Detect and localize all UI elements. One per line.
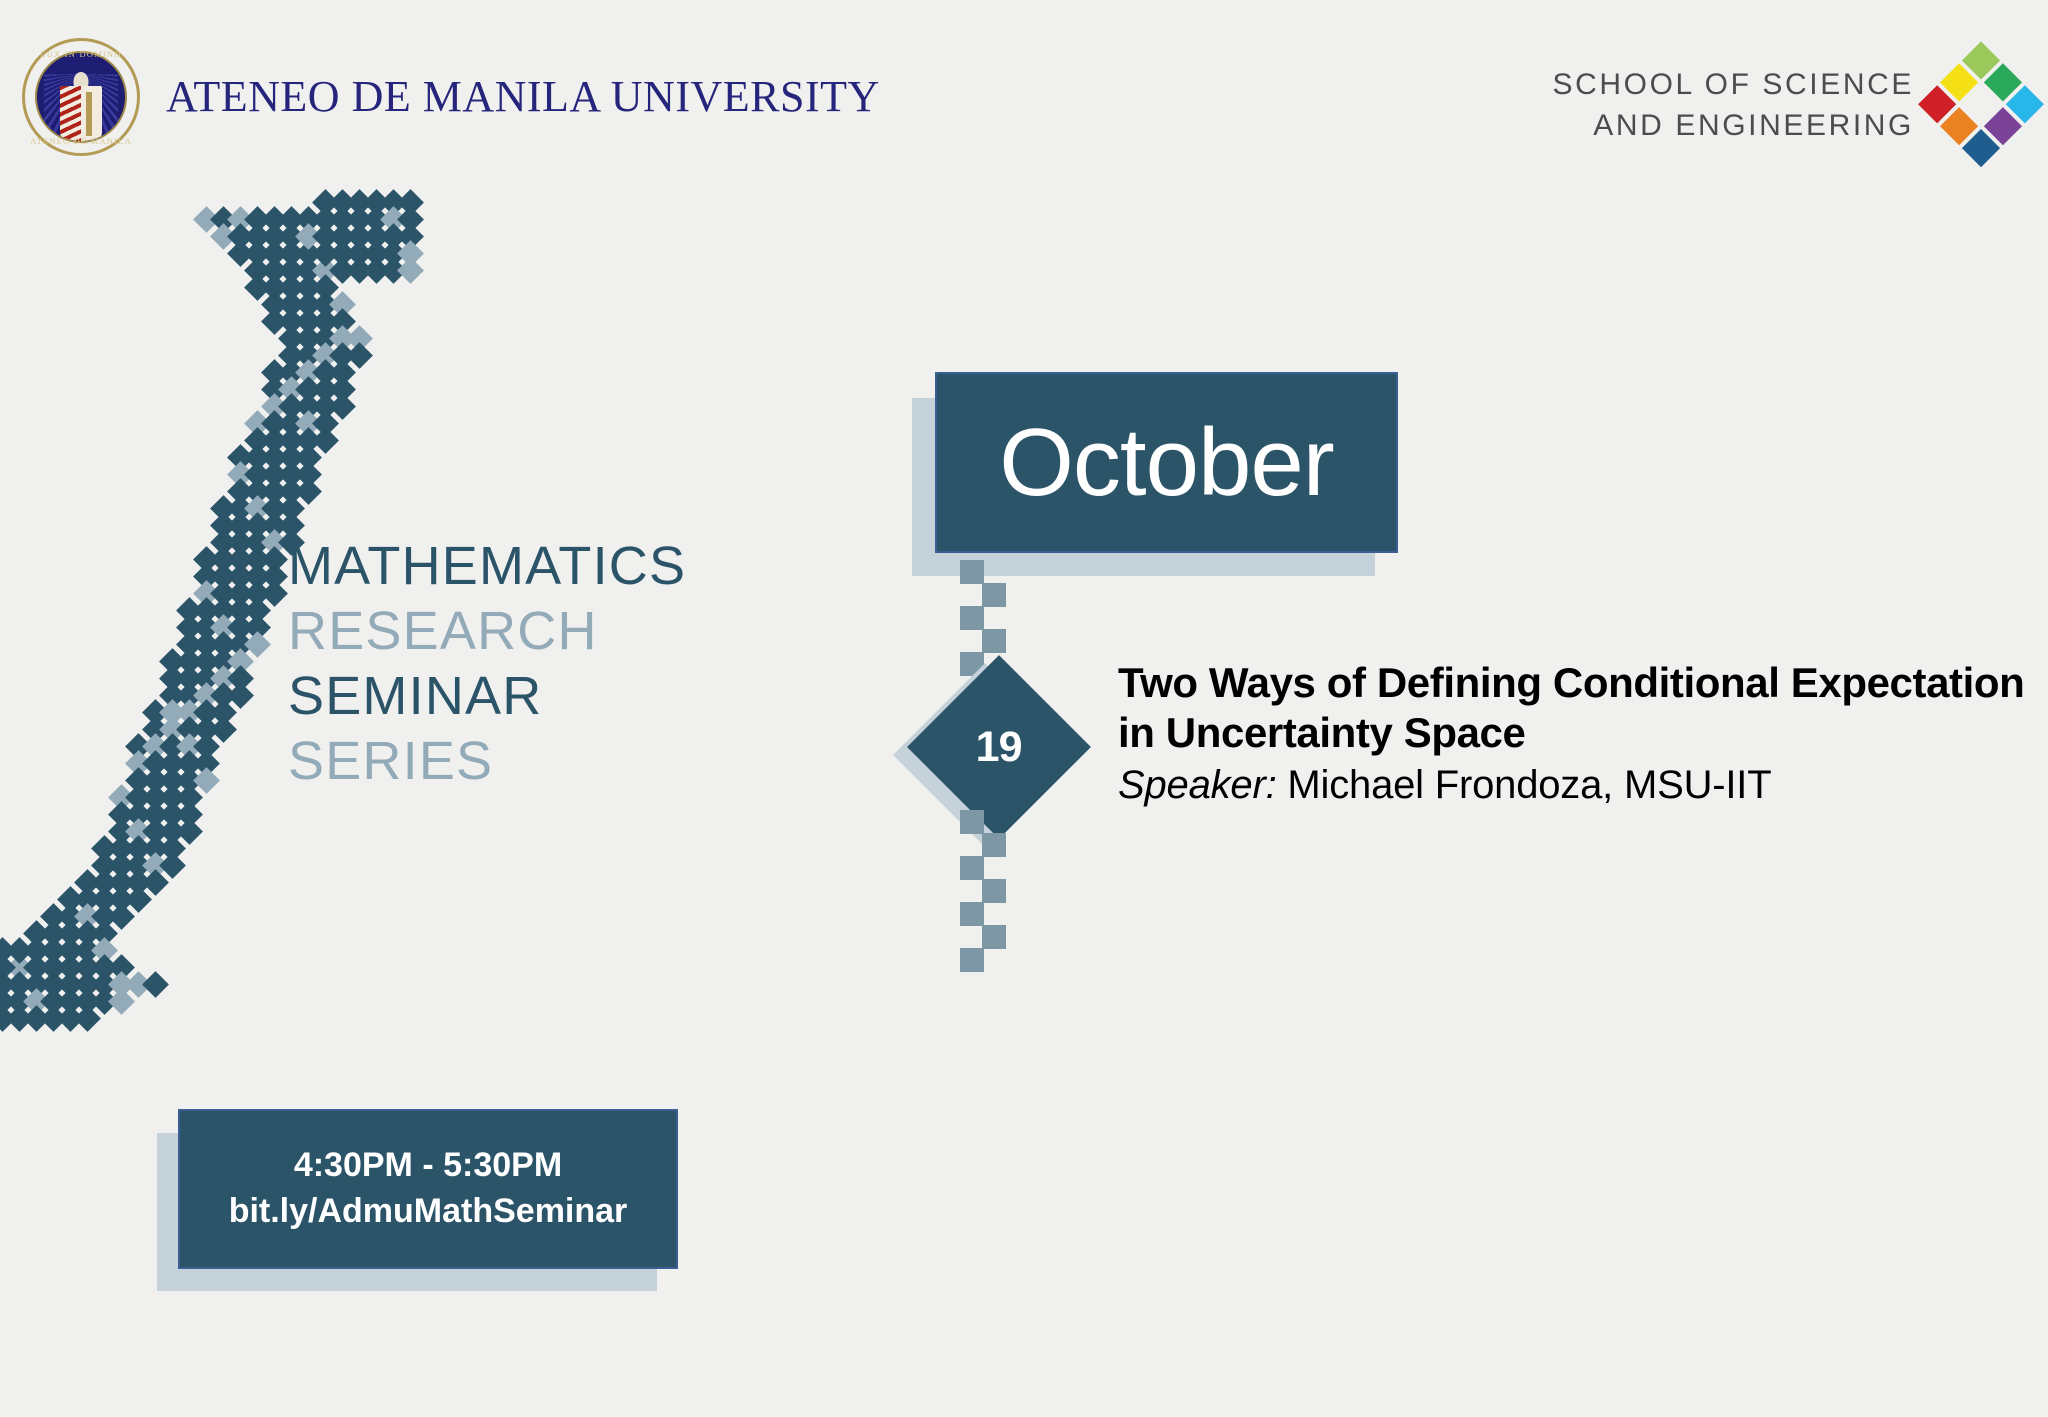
connector-tile (982, 583, 1006, 607)
speaker-name: Michael Frondoza, MSU-IIT (1287, 763, 1771, 807)
connector-tile (982, 879, 1006, 903)
integral-logo-tile (142, 869, 169, 896)
university-name: ATENEO DE MANILA UNIVERSITY (166, 75, 880, 119)
talk-title: Two Ways of Defining Conditional Expecta… (1118, 658, 2048, 757)
connector-tile (982, 833, 1006, 857)
integral-logo-tile (295, 478, 322, 505)
seal-motto-bottom: ATENEO DE MANILA (22, 136, 140, 146)
connector-tile (982, 629, 1006, 653)
month-box: October (935, 372, 1398, 553)
wordmark-mathematics: MATHEMATICS (288, 540, 686, 593)
integral-logo-tile (312, 427, 339, 454)
connector-tile (982, 925, 1006, 949)
school-logo-group: SCHOOL OF SCIENCE AND ENGINEERING (1553, 60, 2026, 150)
ateneo-seal-icon: LUX IN DOMINO ATENEO DE MANILA (22, 38, 140, 156)
connector-tile (960, 856, 984, 880)
wordmark-research: RESEARCH (288, 605, 686, 658)
integral-logo-tile (329, 393, 356, 420)
integral-logo-tile (74, 1005, 101, 1032)
event-time: 4:30PM - 5:30PM (294, 1143, 562, 1189)
shield-pillar (86, 92, 92, 136)
sose-diamond-icon (1917, 41, 2044, 168)
integral-logo-tile (210, 716, 237, 743)
connector-tile (960, 810, 984, 834)
connector-tile (960, 606, 984, 630)
integral-logo-tile (142, 971, 169, 998)
integral-logo-tile (176, 818, 203, 845)
integral-logo-tile (227, 682, 254, 709)
wordmark-seminar: SEMINAR (288, 670, 686, 723)
connector-tile (960, 902, 984, 926)
seal-shield-icon (60, 86, 102, 142)
talk-speaker: Speaker: Michael Frondoza, MSU-IIT (1118, 763, 2048, 808)
integral-logo-tile (397, 257, 424, 284)
month-label: October (999, 415, 1333, 511)
seal-inner-field (35, 51, 127, 143)
integral-logo-tile (193, 767, 220, 794)
integral-logo-tile (108, 903, 135, 930)
connector-below-day (960, 810, 1020, 970)
speaker-label: Speaker: (1118, 763, 1277, 807)
seal-motto-top: LUX IN DOMINO (22, 49, 140, 59)
seminar-wordmark: MATHEMATICS RESEARCH SEMINAR SERIES (288, 540, 686, 800)
connector-tile (960, 560, 984, 584)
day-label: 19 (976, 723, 1022, 772)
integral-logo-tile (244, 631, 271, 658)
integral-logo-tile (108, 988, 135, 1015)
header-bar: LUX IN DOMINO ATENEO DE MANILA ATENEO DE… (0, 0, 2048, 170)
integral-logo-tile (125, 886, 152, 913)
event-link[interactable]: bit.ly/AdmuMathSeminar (229, 1189, 628, 1235)
wordmark-series: SERIES (288, 735, 686, 788)
connector-tile (960, 948, 984, 972)
school-name: SCHOOL OF SCIENCE AND ENGINEERING (1553, 64, 1914, 147)
integral-logo-tile (159, 852, 186, 879)
school-name-line1: SCHOOL OF SCIENCE (1553, 64, 1914, 105)
integral-logo-tile (346, 342, 373, 369)
integral-logo-tile (261, 580, 288, 607)
school-name-line2: AND ENGINEERING (1553, 105, 1914, 146)
time-box: 4:30PM - 5:30PM bit.ly/AdmuMathSeminar (178, 1109, 678, 1269)
talk-details: Two Ways of Defining Conditional Expecta… (1118, 658, 2048, 808)
ateneo-logo-group: LUX IN DOMINO ATENEO DE MANILA ATENEO DE… (22, 38, 880, 156)
shield-stripes (60, 86, 81, 142)
